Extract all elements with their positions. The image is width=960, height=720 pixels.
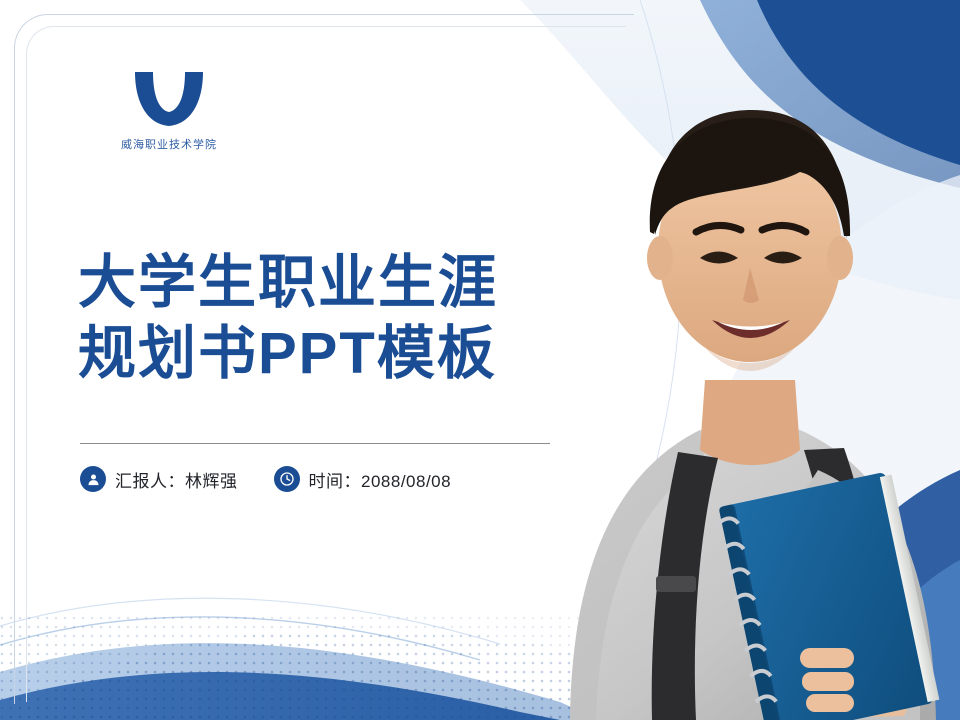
- presenter-info: 汇报人：林辉强: [80, 466, 238, 492]
- title-line-1: 大学生职业生涯: [78, 248, 598, 319]
- page-title: 大学生职业生涯 规划书PPT模板: [78, 248, 598, 390]
- school-logo: 威海职业技术学院: [74, 68, 264, 164]
- title-line-2: 规划书PPT模板: [78, 319, 598, 390]
- clock-icon: [274, 466, 300, 492]
- logo-caption: 威海职业技术学院: [74, 136, 264, 152]
- date-label: 时间：2088/08/08: [309, 467, 452, 492]
- logo-mark-icon: [127, 68, 211, 130]
- presenter-label: 汇报人：林辉强: [115, 467, 238, 492]
- title-divider: [80, 443, 550, 444]
- person-icon: [80, 466, 106, 492]
- date-info: 时间：2088/08/08: [274, 466, 452, 492]
- presentation-meta: 汇报人：林辉强 时间：2088/08/08: [80, 466, 451, 492]
- presentation-title-slide: 威海职业技术学院 大学生职业生涯 规划书PPT模板 汇报人：林辉强: [0, 0, 960, 720]
